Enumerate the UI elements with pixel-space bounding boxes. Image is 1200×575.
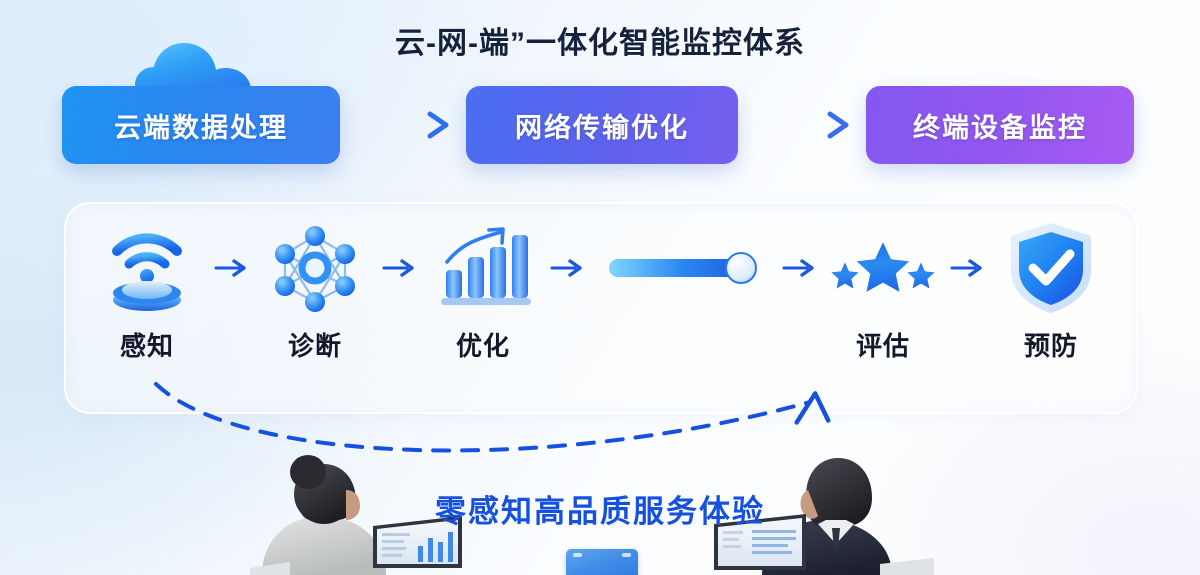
step-arrow-icon: [376, 220, 422, 316]
infographic-canvas: 云-网-端”一体化智能监控体系 云端数据处理 网络传输优化 终端设备监控: [0, 0, 1200, 575]
process-step-slider[interactable]: [590, 202, 776, 362]
growth-bar-chart-icon: [433, 220, 533, 316]
process-step-evaluate[interactable]: 评估: [822, 202, 944, 362]
step-arrow-icon: [944, 220, 990, 316]
step-arrow-icon: [208, 220, 254, 316]
stage-box-label: 网络传输优化: [515, 106, 689, 145]
stage-box-network[interactable]: 网络传输优化: [466, 86, 738, 164]
stage-box-cloud[interactable]: 云端数据处理: [62, 86, 340, 164]
step-arrow-icon: [776, 220, 822, 316]
process-step-label: 诊断: [288, 330, 342, 362]
process-step-label: 预防: [1024, 330, 1078, 362]
stage-box-label: 终端设备监控: [913, 106, 1087, 145]
process-step-label: 评估: [856, 330, 910, 362]
process-step-sense[interactable]: 感知: [86, 202, 208, 362]
process-step-label: 感知: [120, 330, 174, 362]
dashed-feedback-arrow: [150, 378, 850, 458]
process-step-optimize[interactable]: 优化: [422, 202, 544, 362]
shield-check-icon: [1005, 220, 1097, 316]
step-arrow-icon: [544, 220, 590, 316]
stage-box-label: 云端数据处理: [114, 106, 288, 145]
process-step-diagnose[interactable]: 诊断: [254, 202, 376, 362]
wifi-sensor-icon: [101, 220, 193, 316]
tablet-device: [566, 549, 638, 575]
process-step-prevent[interactable]: 预防: [990, 202, 1112, 362]
tagline-text: 零感知高品质服务体验: [0, 486, 1200, 531]
neural-network-icon: [267, 220, 363, 316]
arrow-right-icon: [752, 108, 856, 142]
arrow-right-icon: [352, 108, 456, 142]
three-stars-icon: [825, 220, 941, 316]
slider-toggle-icon: [603, 220, 763, 316]
stage-box-device[interactable]: 终端设备监控: [866, 86, 1134, 164]
process-step-label: 优化: [456, 330, 510, 362]
